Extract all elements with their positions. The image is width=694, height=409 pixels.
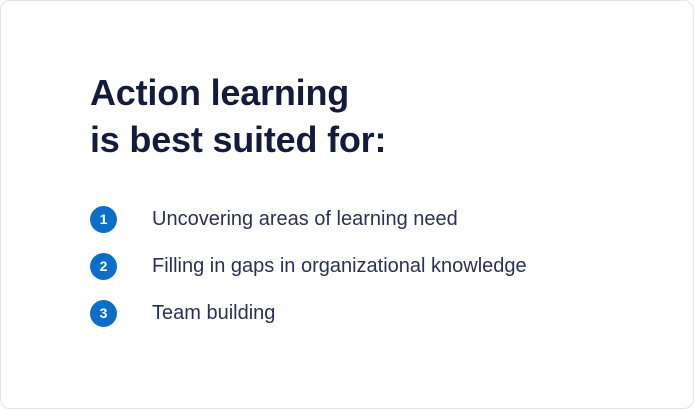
- list-item: 1 Uncovering areas of learning need: [90, 205, 527, 233]
- list-item: 3 Team building: [90, 299, 527, 327]
- list-item-label: Team building: [152, 299, 275, 327]
- list-item-label: Uncovering areas of learning need: [152, 205, 458, 233]
- page-title-line-2: is best suited for:: [90, 116, 663, 163]
- list-number-badge: 1: [90, 206, 117, 233]
- info-card: Action learning is best suited for: 1 Un…: [0, 0, 694, 409]
- heading-block: Action learning is best suited for:: [90, 69, 663, 163]
- page-title: Action learning is best suited for:: [90, 69, 663, 163]
- list-item-label: Filling in gaps in organizational knowle…: [152, 252, 527, 280]
- numbered-list: 1 Uncovering areas of learning need 2 Fi…: [90, 205, 527, 327]
- list-item: 2 Filling in gaps in organizational know…: [90, 252, 527, 280]
- page-title-line-1: Action learning: [90, 69, 663, 116]
- list-number-badge: 3: [90, 300, 117, 327]
- list-number-badge: 2: [90, 253, 117, 280]
